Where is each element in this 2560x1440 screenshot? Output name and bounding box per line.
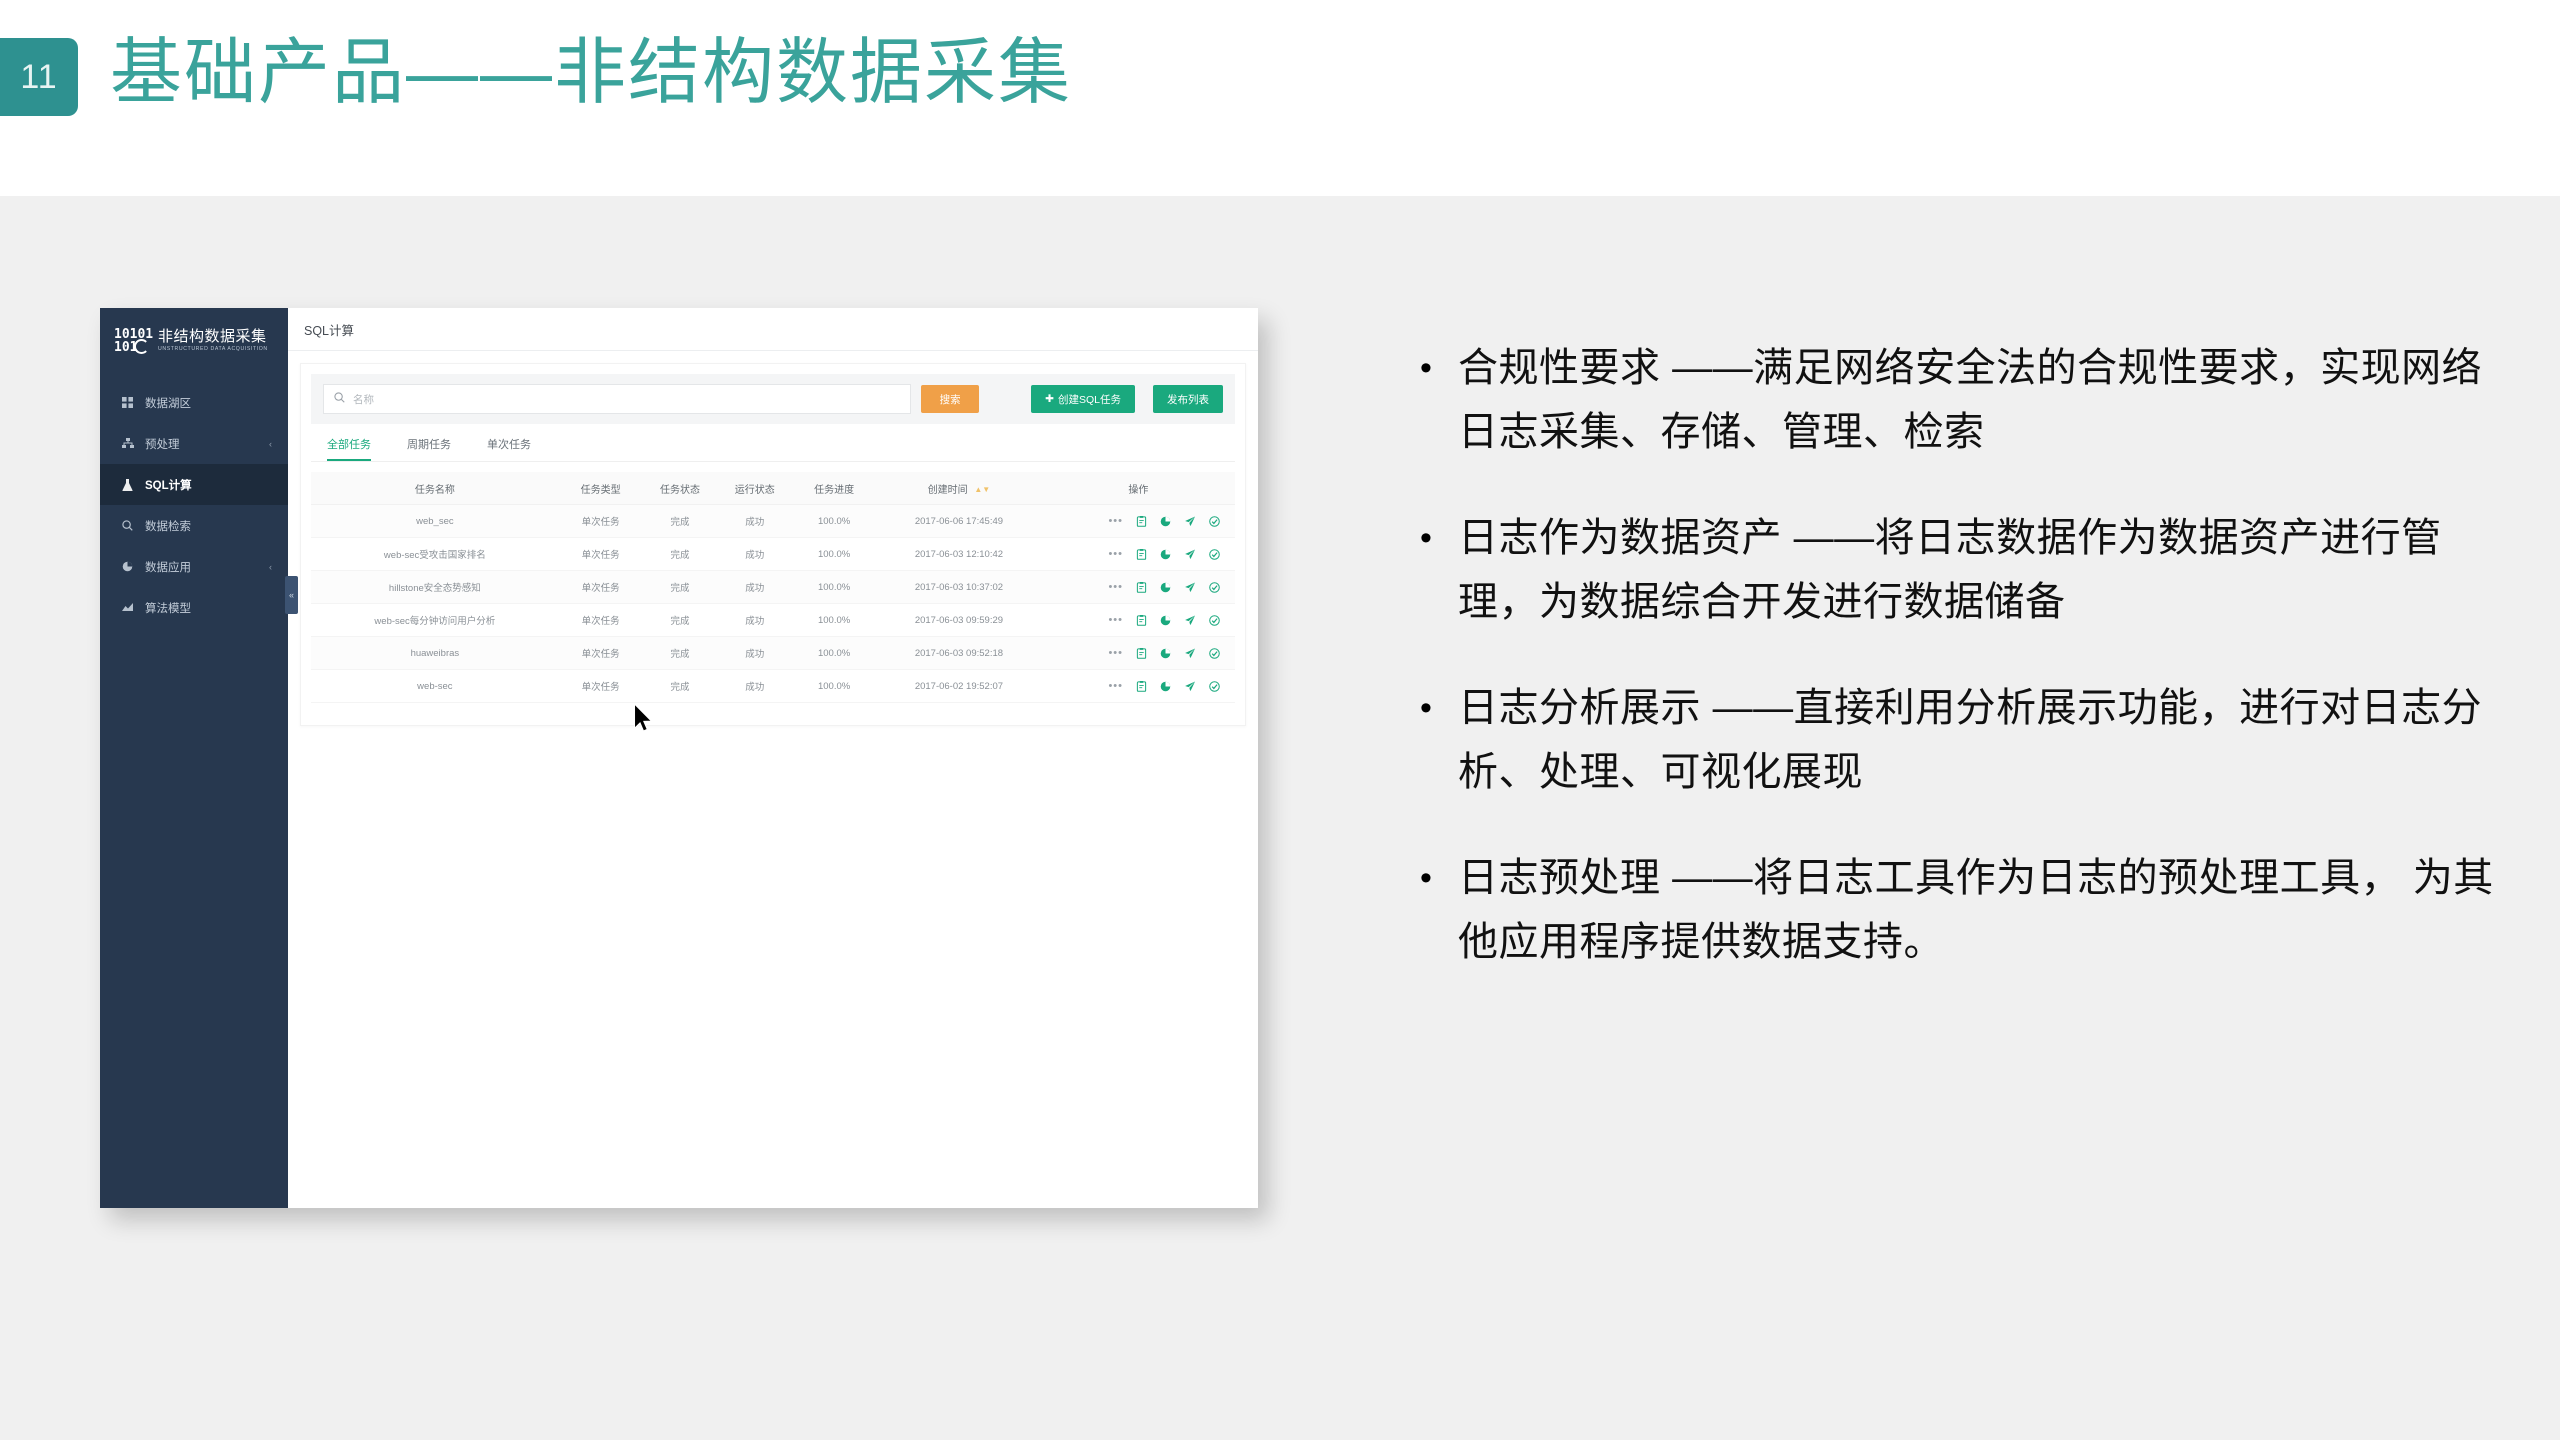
tab-periodic-tasks[interactable]: 周期任务	[407, 436, 451, 461]
app-sidebar: 10101 101 非结构数据采集 UNSTRUCTURED DATA ACQU…	[100, 308, 288, 1208]
cell-created-time: 2017-06-03 09:52:18	[876, 637, 1042, 670]
task-table: 任务名称 任务类型 任务状态 运行状态 任务进度 创建时间 ▲▼ 操作	[311, 472, 1235, 703]
cell-task-status: 完成	[643, 538, 718, 571]
send-icon[interactable]	[1184, 549, 1196, 560]
chevron-icon: ‹	[269, 562, 272, 572]
more-icon[interactable]: •••	[1108, 515, 1123, 527]
clipboard-icon[interactable]	[1136, 615, 1147, 626]
cell-task-name: web-sec	[311, 670, 559, 703]
slide-body: 10101 101 非结构数据采集 UNSTRUCTURED DATA ACQU…	[0, 196, 2560, 1440]
cell-operations: •••	[1042, 604, 1235, 637]
sidebar-item-preprocess[interactable]: 预处理 ‹	[100, 423, 288, 464]
table-row[interactable]: web_sec 单次任务 完成 成功 100.0% 2017-06-06 17:…	[311, 505, 1235, 538]
search-button[interactable]: 搜索	[921, 385, 979, 413]
more-icon[interactable]: •••	[1108, 680, 1123, 692]
cell-operations: •••	[1042, 571, 1235, 604]
bullet-text: 日志分析展示 ——直接利用分析展示功能，进行对日志分析、处理、可视化展现	[1458, 676, 2520, 804]
binary-logo-icon: 10101 101	[114, 328, 150, 354]
sort-icon[interactable]: ▲▼	[974, 486, 990, 494]
create-sql-task-button[interactable]: ✚ 创建SQL任务	[1031, 385, 1135, 413]
plus-icon: ✚	[1045, 393, 1054, 405]
sidebar-item-label: SQL计算	[145, 477, 192, 493]
sidebar-item-label: 数据湖区	[145, 395, 191, 411]
table-row[interactable]: web-sec受攻击国家排名 单次任务 完成 成功 100.0% 2017-06…	[311, 538, 1235, 571]
pie-chart-icon[interactable]	[1160, 615, 1171, 626]
bullet-marker: •	[1420, 336, 1458, 464]
search-input-placeholder: 名称	[353, 392, 374, 407]
check-circle-icon[interactable]	[1209, 681, 1220, 692]
grid-icon	[122, 397, 138, 408]
cell-created-time: 2017-06-03 10:37:02	[876, 571, 1042, 604]
cell-task-progress: 100.0%	[792, 505, 876, 538]
sidebar-collapse-handle[interactable]: «	[285, 576, 298, 614]
sidebar-nav-list: 数据湖区 预处理 ‹ SQL计算	[100, 382, 288, 628]
cell-run-status: 成功	[717, 538, 792, 571]
cell-created-time: 2017-06-03 12:10:42	[876, 538, 1042, 571]
cell-created-time: 2017-06-02 19:52:07	[876, 670, 1042, 703]
cell-task-progress: 100.0%	[792, 538, 876, 571]
cell-task-status: 完成	[643, 604, 718, 637]
brand-name-en: UNSTRUCTURED DATA ACQUISITION	[158, 347, 268, 352]
page-title: 基础产品——非结构数据采集	[110, 18, 1072, 128]
app-main-area: SQL计算 名称 搜索 ✚ 创建SQL任务 发布列	[288, 308, 1258, 1208]
brand-name-cn: 非结构数据采集	[158, 329, 268, 344]
more-icon[interactable]: •••	[1108, 614, 1123, 626]
cell-task-name: hillstone安全态势感知	[311, 571, 559, 604]
page-number-badge: 11	[0, 38, 78, 116]
cell-run-status: 成功	[717, 571, 792, 604]
column-header-created-time[interactable]: 创建时间 ▲▼	[876, 472, 1042, 505]
more-icon[interactable]: •••	[1108, 548, 1123, 560]
table-header-row: 任务名称 任务类型 任务状态 运行状态 任务进度 创建时间 ▲▼ 操作	[311, 472, 1235, 505]
column-header-task-type[interactable]: 任务类型	[559, 472, 643, 505]
table-row[interactable]: huaweibras 单次任务 完成 成功 100.0% 2017-06-03 …	[311, 637, 1235, 670]
bullet-text: 日志预处理 ——将日志工具作为日志的预处理工具， 为其他应用程序提供数据支持。	[1458, 846, 2520, 974]
cell-run-status: 成功	[717, 604, 792, 637]
task-table-head: 任务名称 任务类型 任务状态 运行状态 任务进度 创建时间 ▲▼ 操作	[311, 472, 1235, 505]
publish-list-button[interactable]: 发布列表	[1153, 385, 1223, 413]
pie-chart-icon[interactable]	[1160, 648, 1171, 659]
cell-task-progress: 100.0%	[792, 604, 876, 637]
pie-icon	[122, 561, 138, 572]
check-circle-icon[interactable]	[1209, 615, 1220, 626]
sitemap-icon	[122, 438, 138, 449]
check-circle-icon[interactable]	[1209, 549, 1220, 560]
search-input[interactable]: 名称	[323, 384, 911, 414]
cell-operations: •••	[1042, 505, 1235, 538]
sidebar-item-label: 数据检索	[145, 518, 191, 534]
send-icon[interactable]	[1184, 615, 1196, 626]
sidebar-item-label: 算法模型	[145, 600, 191, 616]
cell-task-progress: 100.0%	[792, 670, 876, 703]
pie-chart-icon[interactable]	[1160, 582, 1171, 593]
cell-task-type: 单次任务	[559, 604, 643, 637]
column-header-task-name[interactable]: 任务名称	[311, 472, 559, 505]
more-icon[interactable]: •••	[1108, 647, 1123, 659]
cell-run-status: 成功	[717, 505, 792, 538]
cell-created-time: 2017-06-06 17:45:49	[876, 505, 1042, 538]
cell-task-name: web_sec	[311, 505, 559, 538]
more-icon[interactable]: •••	[1108, 581, 1123, 593]
cell-operations: •••	[1042, 538, 1235, 571]
list-item: • 日志作为数据资产 ——将日志数据作为数据资产进行管理，为数据综合开发进行数据…	[1420, 506, 2520, 634]
column-header-created-time-label: 创建时间	[928, 485, 968, 496]
column-header-operations: 操作	[1042, 472, 1235, 505]
clipboard-icon[interactable]	[1136, 516, 1147, 527]
sidebar-item-label: 预处理	[145, 436, 180, 452]
send-icon[interactable]	[1184, 516, 1196, 527]
pie-chart-icon[interactable]	[1160, 549, 1171, 560]
cell-task-progress: 100.0%	[792, 637, 876, 670]
cell-task-type: 单次任务	[559, 505, 643, 538]
sidebar-item-algorithm-model[interactable]: 算法模型	[100, 587, 288, 628]
cell-run-status: 成功	[717, 637, 792, 670]
tab-single-tasks[interactable]: 单次任务	[487, 436, 531, 461]
column-header-run-status[interactable]: 运行状态	[717, 472, 792, 505]
cell-task-status: 完成	[643, 571, 718, 604]
pie-chart-icon[interactable]	[1160, 681, 1171, 692]
table-row[interactable]: web-sec 单次任务 完成 成功 100.0% 2017-06-02 19:…	[311, 670, 1235, 703]
bullet-marker: •	[1420, 846, 1458, 974]
chevron-icon: ‹	[269, 439, 272, 449]
table-row[interactable]: hillstone安全态势感知 单次任务 完成 成功 100.0% 2017-0…	[311, 571, 1235, 604]
sidebar-item-data-application[interactable]: 数据应用 ‹	[100, 546, 288, 587]
task-tabs: 全部任务 周期任务 单次任务	[311, 424, 1235, 462]
bullet-list: • 合规性要求 ——满足网络安全法的合规性要求，实现网络日志采集、存储、管理、检…	[1420, 336, 2520, 1016]
flask-icon	[122, 479, 138, 491]
list-item: • 合规性要求 ——满足网络安全法的合规性要求，实现网络日志采集、存储、管理、检…	[1420, 336, 2520, 464]
chart-icon	[122, 602, 138, 613]
send-icon[interactable]	[1184, 681, 1196, 692]
clipboard-icon[interactable]	[1136, 681, 1147, 692]
cell-task-type: 单次任务	[559, 538, 643, 571]
search-toolbar: 名称 搜索 ✚ 创建SQL任务 发布列表	[311, 374, 1235, 424]
task-table-body: web_sec 单次任务 完成 成功 100.0% 2017-06-06 17:…	[311, 505, 1235, 703]
sidebar-item-data-search[interactable]: 数据检索	[100, 505, 288, 546]
recycle-arrow-icon	[134, 339, 149, 354]
cell-task-progress: 100.0%	[792, 571, 876, 604]
column-header-task-status[interactable]: 任务状态	[643, 472, 718, 505]
tab-all-tasks[interactable]: 全部任务	[327, 436, 371, 461]
sidebar-item-data-lake[interactable]: 数据湖区	[100, 382, 288, 423]
app-topbar: SQL计算	[288, 308, 1258, 351]
cell-task-status: 完成	[643, 505, 718, 538]
check-circle-icon[interactable]	[1209, 582, 1220, 593]
cell-operations: •••	[1042, 637, 1235, 670]
send-icon[interactable]	[1184, 582, 1196, 593]
cell-task-name: web-sec受攻击国家排名	[311, 538, 559, 571]
sidebar-item-label: 数据应用	[145, 559, 191, 575]
bullet-text: 合规性要求 ——满足网络安全法的合规性要求，实现网络日志采集、存储、管理、检索	[1458, 336, 2520, 464]
clipboard-icon[interactable]	[1136, 648, 1147, 659]
create-sql-task-label: 创建SQL任务	[1058, 392, 1121, 407]
list-item: • 日志预处理 ——将日志工具作为日志的预处理工具， 为其他应用程序提供数据支持…	[1420, 846, 2520, 974]
column-header-task-progress[interactable]: 任务进度	[792, 472, 876, 505]
cell-task-status: 完成	[643, 637, 718, 670]
bullet-text: 日志作为数据资产 ——将日志数据作为数据资产进行管理，为数据综合开发进行数据储备	[1458, 506, 2520, 634]
slide-header: 11 基础产品——非结构数据采集	[0, 0, 2560, 196]
cell-task-type: 单次任务	[559, 571, 643, 604]
send-icon[interactable]	[1184, 648, 1196, 659]
app-brand-logo: 10101 101 非结构数据采集 UNSTRUCTURED DATA ACQU…	[100, 308, 288, 372]
table-row[interactable]: web-sec每分钟访问用户分析 单次任务 完成 成功 100.0% 2017-…	[311, 604, 1235, 637]
cell-operations: •••	[1042, 670, 1235, 703]
pie-chart-icon[interactable]	[1160, 516, 1171, 527]
list-item: • 日志分析展示 ——直接利用分析展示功能，进行对日志分析、处理、可视化展现	[1420, 676, 2520, 804]
cell-run-status: 成功	[717, 670, 792, 703]
content-card: 名称 搜索 ✚ 创建SQL任务 发布列表 全部任务 周期任务 单次任务	[300, 363, 1246, 726]
cell-task-status: 完成	[643, 670, 718, 703]
search-icon	[122, 520, 138, 531]
sidebar-item-sql-compute[interactable]: SQL计算	[100, 464, 288, 505]
cell-task-type: 单次任务	[559, 670, 643, 703]
check-circle-icon[interactable]	[1209, 516, 1220, 527]
check-circle-icon[interactable]	[1209, 648, 1220, 659]
app-screenshot-window: 10101 101 非结构数据采集 UNSTRUCTURED DATA ACQU…	[100, 308, 1258, 1208]
bullet-marker: •	[1420, 676, 1458, 804]
app-page-title: SQL计算	[304, 320, 354, 339]
cell-created-time: 2017-06-03 09:59:29	[876, 604, 1042, 637]
cell-task-name: web-sec每分钟访问用户分析	[311, 604, 559, 637]
bullet-marker: •	[1420, 506, 1458, 634]
cell-task-type: 单次任务	[559, 637, 643, 670]
clipboard-icon[interactable]	[1136, 582, 1147, 593]
cell-task-name: huaweibras	[311, 637, 559, 670]
clipboard-icon[interactable]	[1136, 549, 1147, 560]
search-icon	[334, 390, 345, 408]
